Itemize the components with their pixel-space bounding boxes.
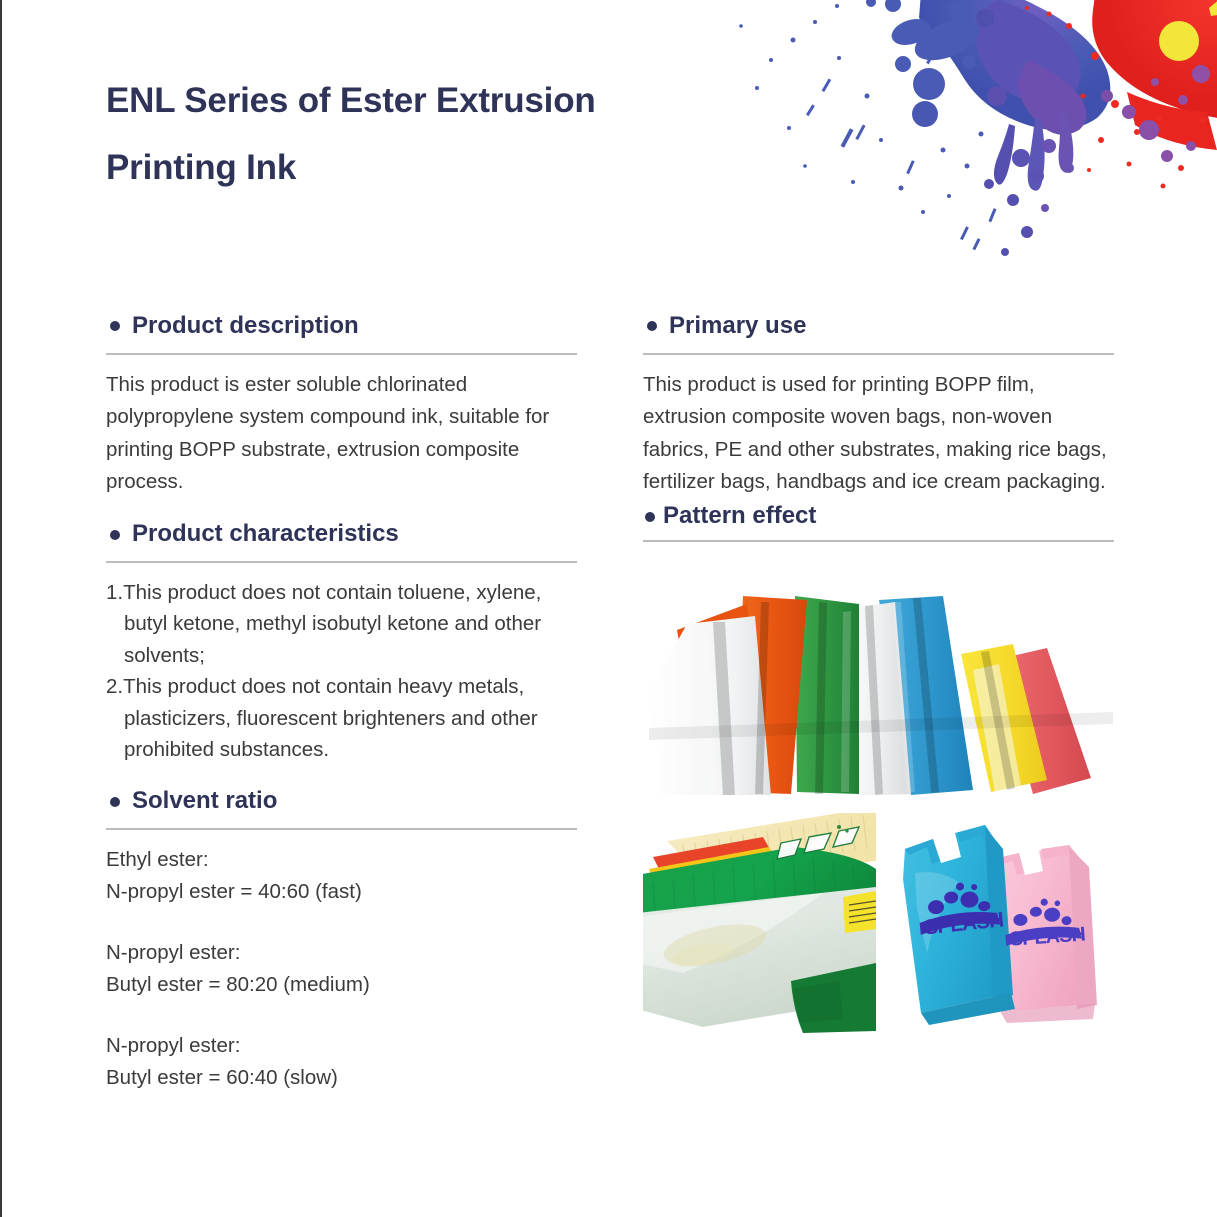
right-column: Primary use This product is used for pri…: [643, 312, 1114, 1037]
left-column: Product description This product is este…: [106, 312, 577, 1094]
solvent-ratio-group: N-propyl ester: Butyl ester = 80:20 (med…: [106, 937, 577, 1002]
paragraph: This product is ester soluble chlorinate…: [106, 369, 577, 499]
section-heading-label: Product description: [132, 312, 359, 341]
solvent-ratio-line: N-propyl ester:: [106, 1030, 577, 1062]
list-item-text: This product does not contain heavy meta…: [123, 675, 538, 761]
section-heading-label: Solvent ratio: [132, 787, 277, 816]
section-heading-product-description: Product description: [106, 312, 577, 341]
page-title-line-1: ENL Series of Ester Extrusion: [106, 68, 706, 135]
page-title: ENL Series of Ester Extrusion Printing I…: [106, 68, 706, 201]
solvent-ratio-group: N-propyl ester: Butyl ester = 60:40 (slo…: [106, 1030, 577, 1095]
product-datasheet-page: ENL Series of Ester Extrusion Printing I…: [2, 0, 1217, 1217]
splash-shopping-bags-photo: SPLASH: [881, 813, 1114, 1037]
page-title-line-2: Printing Ink: [106, 135, 706, 202]
section-product-description: Product description This product is este…: [106, 312, 577, 498]
bullet-dot-icon: [647, 321, 657, 331]
section-heading-primary-use: Primary use: [643, 312, 1114, 341]
solvent-ratio-line: Butyl ester = 60:40 (slow): [106, 1062, 577, 1094]
list-item-number: 1.: [106, 581, 123, 604]
solvent-ratio-group: Ethyl ester: N-propyl ester = 40:60 (fas…: [106, 844, 577, 909]
solvent-ratio-line: N-propyl ester = 40:60 (fast): [106, 876, 577, 908]
list-item: 1.This product does not contain toluene,…: [106, 577, 577, 671]
list-item-number: 2.: [106, 675, 123, 698]
characteristics-list: 1.This product does not contain toluene,…: [106, 577, 577, 765]
bullet-dot-icon: [110, 797, 120, 807]
section-heading-label: Primary use: [669, 312, 806, 341]
woven-bags-fan-photo: [643, 552, 1114, 805]
paragraph: This product is used for printing BOPP f…: [643, 369, 1114, 499]
solvent-ratio-line: Ethyl ester:: [106, 844, 577, 876]
solvent-ratio-list: Ethyl ester: N-propyl ester = 40:60 (fas…: [106, 844, 577, 1094]
section-body-primary-use: This product is used for printing BOPP f…: [643, 369, 1114, 499]
list-item-text: This product does not contain toluene, x…: [123, 581, 541, 667]
section-primary-use: Primary use This product is used for pri…: [643, 312, 1114, 498]
solvent-ratio-line: Butyl ester = 80:20 (medium): [106, 969, 577, 1001]
section-divider: [106, 828, 577, 830]
bullet-dot-icon: [110, 530, 120, 540]
section-heading-label: Product characteristics: [132, 520, 399, 549]
pattern-effect-gallery: SPLASH: [643, 552, 1114, 1037]
section-product-characteristics: Product characteristics 1.This product d…: [106, 520, 577, 765]
section-heading-pattern-effect: Pattern effect: [643, 502, 1114, 531]
section-divider: [643, 540, 1114, 542]
solvent-ratio-line: N-propyl ester:: [106, 937, 577, 969]
section-solvent-ratio: Solvent ratio Ethyl ester: N-propyl este…: [106, 787, 577, 1094]
section-divider: [106, 561, 577, 563]
section-heading-solvent-ratio: Solvent ratio: [106, 787, 577, 816]
section-divider: [643, 353, 1114, 355]
bullet-dot-icon: [645, 512, 655, 522]
bullet-dot-icon: [110, 321, 120, 331]
section-pattern-effect: Pattern effect: [643, 502, 1114, 1037]
list-item: 2.This product does not contain heavy me…: [106, 671, 577, 765]
section-heading-label: Pattern effect: [663, 502, 816, 531]
printed-rice-bag-photo: [643, 813, 876, 1037]
section-divider: [106, 353, 577, 355]
section-heading-product-characteristics: Product characteristics: [106, 520, 577, 549]
pattern-effect-gallery-row: SPLASH: [643, 813, 1114, 1037]
section-body-product-description: This product is ester soluble chlorinate…: [106, 369, 577, 499]
ink-splatter-graphic: [697, 0, 1217, 285]
